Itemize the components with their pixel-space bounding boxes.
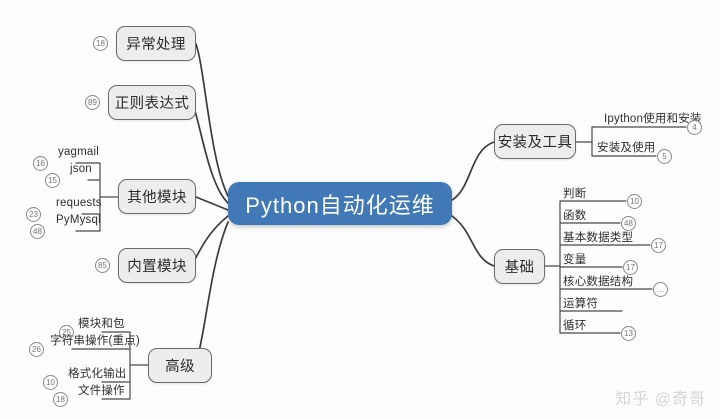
badge-yichangchuli: 18 [93, 36, 108, 51]
branch-node-neizhimokuai[interactable]: 内置模块 [118, 248, 196, 283]
watermark: 知乎 @奇哥 [615, 385, 706, 409]
leaf-yagmail[interactable]: yagmail [58, 146, 99, 158]
branch-label: 正则表达式 [115, 92, 190, 113]
badge-ipython-install: 4 [687, 120, 702, 135]
leaf-wenjiancaozuo[interactable]: 文件操作 [78, 382, 125, 398]
wire-center-jichu [452, 216, 494, 266]
leaf-geshihuashuchu[interactable]: 格式化输出 [68, 365, 127, 381]
wire-center-anzhuang [452, 142, 494, 200]
mindmap-canvas: Python自动化运维 异常处理 18 正则表达式 89 其他模块 yagmai… [0, 0, 720, 419]
leaf-zifuchuancaozuo[interactable]: 字符串操作(重点) [50, 332, 140, 348]
wire-center-qitamokuai [196, 197, 228, 210]
badge-hexinshujujiegou: … [653, 282, 668, 297]
leaf-bianliang[interactable]: 变量 [563, 251, 586, 267]
leaf-xunhuan[interactable]: 循环 [563, 317, 586, 333]
wire-center-zhengze [192, 102, 228, 203]
leaf-panduan[interactable]: 判断 [563, 185, 586, 201]
leaf-jibenshujuleixing[interactable]: 基本数据类型 [563, 229, 633, 245]
badge-pymysql: 48 [30, 224, 45, 239]
branch-label: 高级 [165, 355, 195, 376]
branch-node-yichangchuli[interactable]: 异常处理 [116, 26, 196, 61]
leaf-pymysql[interactable]: PyMysql [56, 214, 101, 226]
badge-zifuchuancaozuo: 26 [29, 342, 44, 357]
leaf-anzhuangjishiyong[interactable]: 安装及使用 [597, 139, 656, 155]
branch-node-gaoji[interactable]: 高级 [148, 348, 212, 383]
badge-requests: 23 [26, 207, 41, 222]
badge-json: 15 [45, 173, 60, 188]
branch-node-anzhuangjigongju[interactable]: 安装及工具 [494, 124, 576, 159]
leaf-json[interactable]: json [70, 163, 92, 175]
branch-label: 异常处理 [126, 33, 186, 54]
center-node[interactable]: Python自动化运维 [228, 182, 452, 225]
wire-center-gaoji [196, 222, 228, 364]
branch-label: 其他模块 [127, 186, 187, 207]
badge-zhengzebiaodashi: 89 [85, 95, 100, 110]
wire-center-neizhi [192, 216, 228, 265]
leaf-hexinshujujiegou[interactable]: 核心数据结构 [563, 273, 633, 289]
branch-label: 基础 [505, 256, 535, 277]
badge-wenjiancaozuo: 18 [53, 392, 68, 407]
branch-label: 内置模块 [127, 255, 187, 276]
leaf-requests[interactable]: requests [56, 197, 102, 209]
wire-center-yichang [196, 44, 228, 196]
badge-neizhimokuai: 85 [95, 258, 110, 273]
badge-yagmail: 16 [33, 156, 48, 171]
leaf-mokuaihebao[interactable]: 模块和包 [78, 315, 125, 331]
badge-xunhuan: 13 [621, 326, 636, 341]
badge-geshihuashuchu: 10 [43, 375, 58, 390]
badge-panduan: 10 [627, 194, 642, 209]
branch-node-qitamokuai[interactable]: 其他模块 [118, 179, 196, 214]
leaf-hanshu[interactable]: 函数 [563, 207, 586, 223]
branch-node-jichu[interactable]: 基础 [494, 249, 545, 284]
badge-jibenshujuleixing: 17 [651, 238, 666, 253]
badge-anzhuangjishiyong: 5 [657, 149, 672, 164]
branch-label: 安装及工具 [498, 131, 573, 152]
center-node-label: Python自动化运维 [245, 188, 435, 220]
branch-node-zhengzebiaodashi[interactable]: 正则表达式 [108, 85, 196, 120]
leaf-yunsuanfu[interactable]: 运算符 [563, 295, 598, 311]
